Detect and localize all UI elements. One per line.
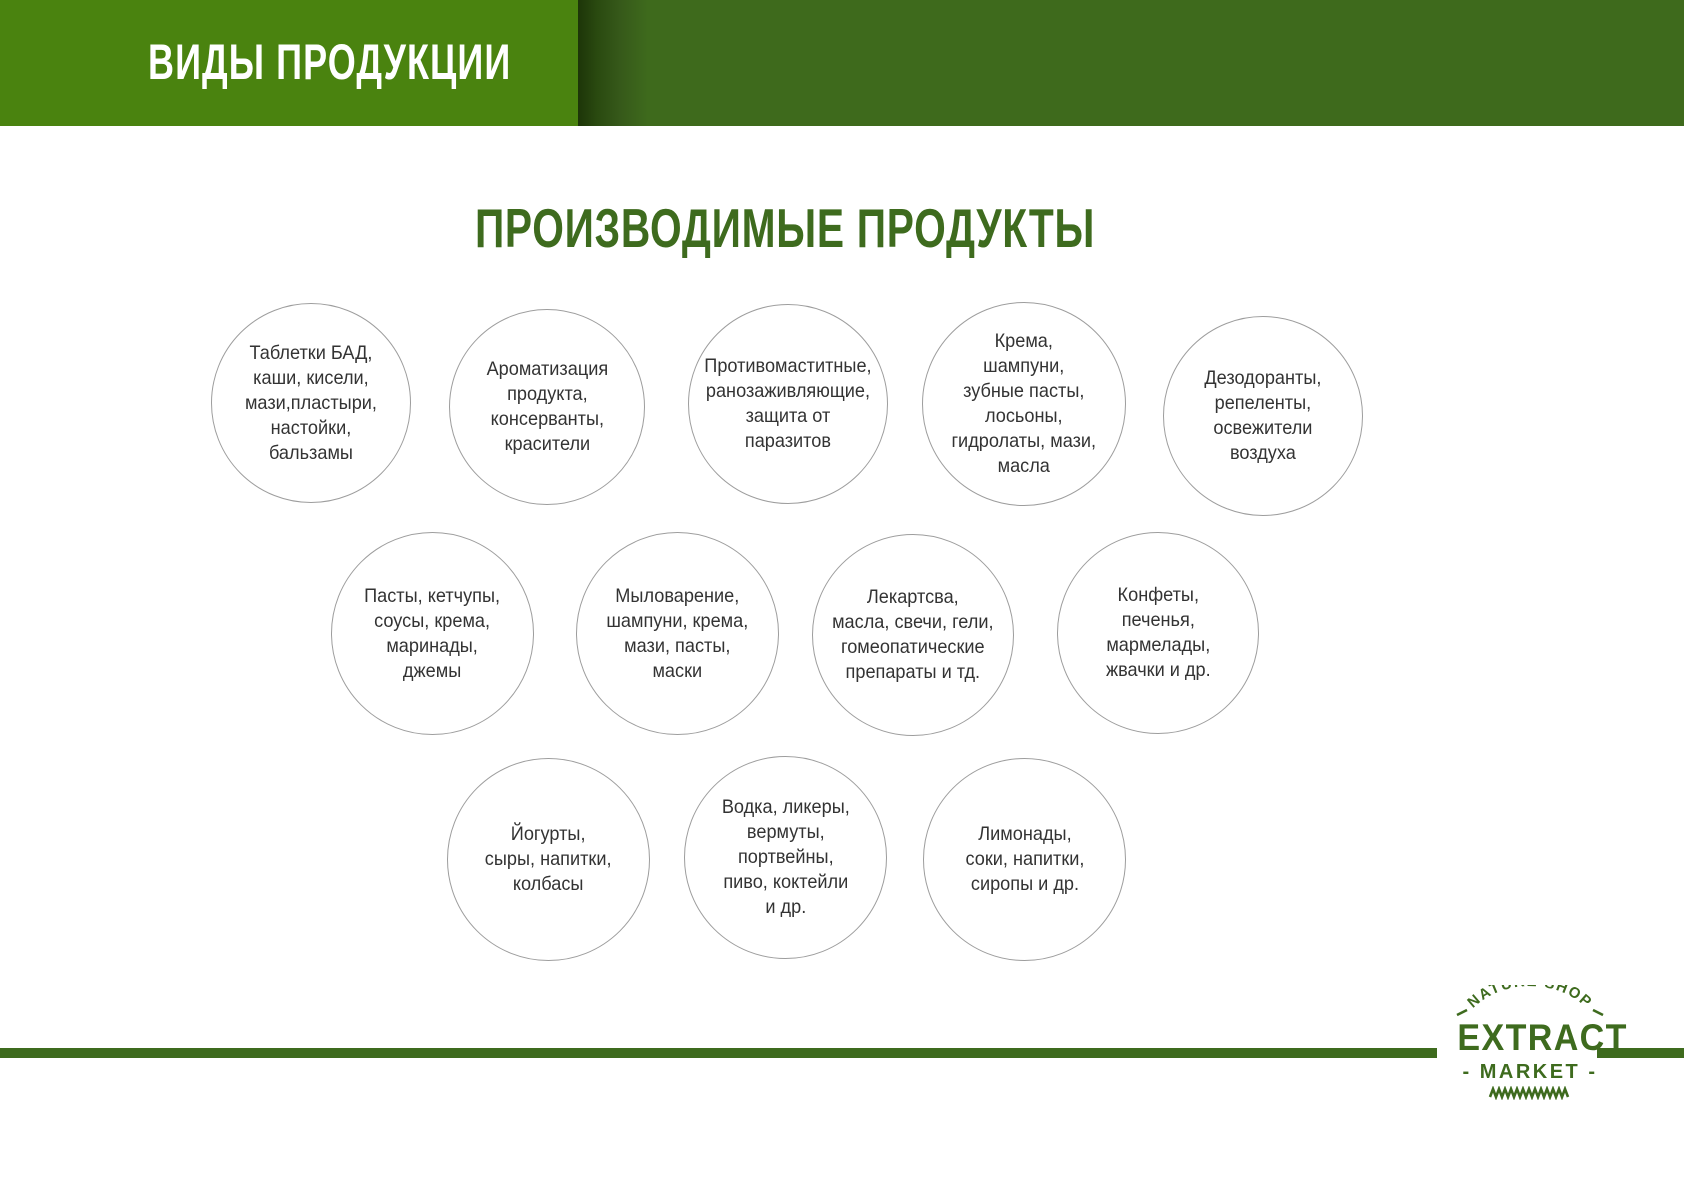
product-circle-label: Йогурты, сыры, напитки, колбасы [480, 822, 618, 897]
product-circle-medicines[interactable]: Лекартсва, масла, свечи, гели, гомеопати… [812, 534, 1014, 736]
brand-logo[interactable]: NATURE SHOP EXTRACT - MARKET - [1450, 985, 1610, 1110]
header-title: ВИДЫ ПРОДУКЦИИ [148, 32, 511, 92]
logo-arc-dash-left [1457, 1010, 1467, 1015]
product-circle-yogurts[interactable]: Йогурты, сыры, напитки, колбасы [447, 758, 650, 961]
page-title-text: ПРОИЗВОДИМЫЕ ПРОДУКТЫ [475, 197, 1095, 259]
product-circle-spirits[interactable]: Водка, ликеры, вермуты, портвейны, пиво,… [684, 756, 887, 959]
product-circle-label: Конфеты, печенья, мармелады, жвачки и др… [1100, 583, 1216, 683]
logo-wordmark: EXTRACT [1450, 1018, 1610, 1058]
footer-rule-left [0, 1048, 1437, 1058]
product-circle-deodorants[interactable]: Дезодоранты, репеленты, освежители возду… [1163, 316, 1363, 516]
header-band: ВИДЫ ПРОДУКЦИИ [0, 0, 1684, 126]
page-title: ПРОИЗВОДИМЫЕ ПРОДУКТЫ [0, 197, 1570, 259]
svg-text:NATURE SHOP: NATURE SHOP [1464, 985, 1595, 1011]
logo-wordmark-text: EXTRACT [1457, 1018, 1627, 1058]
logo-arc-dash-right [1593, 1010, 1603, 1015]
logo-subtitle: - MARKET - [1450, 1061, 1610, 1083]
product-circle-label: Мыловарение, шампуни, крема, мази, пасты… [601, 584, 754, 684]
product-circle-label: Противомаститные, ранозаживляющие, защит… [699, 354, 877, 454]
logo-arc-text: NATURE SHOP [1464, 985, 1595, 1011]
product-circle-sweets[interactable]: Конфеты, печенья, мармелады, жвачки и др… [1057, 532, 1259, 734]
header-band-shadow-edge [578, 0, 648, 126]
product-circle-lemonades[interactable]: Лимонады, соки, напитки, сиропы и др. [923, 758, 1126, 961]
slide-canvas: ВИДЫ ПРОДУКЦИИ ПРОИЗВОДИМЫЕ ПРОДУКТЫ Таб… [0, 0, 1684, 1191]
product-circle-label: Таблетки БАД, каши, кисели, мази,пластыр… [239, 341, 382, 466]
product-circle-label: Водка, ликеры, вермуты, портвейны, пиво,… [716, 795, 855, 920]
product-circle-aromatization[interactable]: Ароматизация продукта, консерванты, крас… [449, 309, 645, 505]
product-circle-antimastitis[interactable]: Противомаститные, ранозаживляющие, защит… [688, 304, 888, 504]
product-circle-label: Дезодоранты, репеленты, освежители возду… [1199, 366, 1327, 466]
product-circle-label: Крема, шампуни, зубные пасты, лосьоны, г… [946, 329, 1102, 479]
product-circle-label: Лимонады, соки, напитки, сиропы и др. [959, 822, 1089, 897]
product-circle-label: Ароматизация продукта, консерванты, крас… [481, 357, 614, 457]
product-circle-label: Лекартсва, масла, свечи, гели, гомеопати… [827, 585, 1000, 685]
product-circle-pastes[interactable]: Пасты, кетчупы, соусы, крема, маринады, … [331, 532, 534, 735]
product-circle-soapmaking[interactable]: Мыловарение, шампуни, крема, мази, пасты… [576, 532, 779, 735]
product-circle-supplements[interactable]: Таблетки БАД, каши, кисели, мази,пластыр… [211, 303, 411, 503]
product-circle-label: Пасты, кетчупы, соусы, крема, маринады, … [359, 584, 506, 684]
product-circle-creams[interactable]: Крема, шампуни, зубные пасты, лосьоны, г… [922, 302, 1126, 506]
logo-zigzag-icon [1488, 1086, 1572, 1100]
